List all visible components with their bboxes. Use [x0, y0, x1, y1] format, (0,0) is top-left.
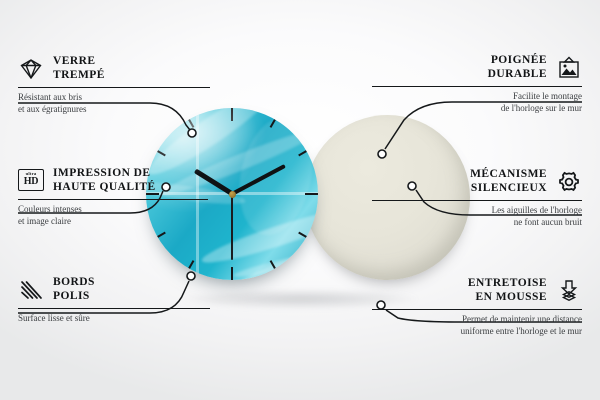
feature-divider: [372, 200, 582, 201]
feature-desc-line2: de l'horloge sur le mur: [372, 103, 582, 115]
infographic-stage: VERRE TREMPÉ Résistant aux bris et aux é…: [0, 0, 600, 400]
feature-desc-line1: Couleurs intenses: [18, 204, 228, 216]
feature-mecanisme-silencieux: MÉCANISME SILENCIEUX Les aiguilles de l'…: [372, 168, 582, 228]
feature-desc-line1: Les aiguilles de l'horloge: [372, 205, 582, 217]
down-arrow-layers-icon: [556, 279, 582, 303]
feature-poignee-durable: POIGNÉE DURABLE Facilite le montage de l…: [372, 54, 582, 114]
feature-title-line2: HAUTE QUALITÉ: [53, 181, 156, 195]
feature-title-line1: VERRE: [53, 55, 105, 69]
feature-desc-line2: uniforme entre l'horloge et le mur: [372, 326, 582, 338]
feature-divider: [18, 87, 210, 88]
feature-title-line2: SILENCIEUX: [470, 182, 547, 196]
feature-title-line2: TREMPÉ: [53, 69, 105, 83]
feature-desc-line1: Permet de maintenir une distance: [372, 314, 582, 326]
feature-title-line1: MÉCANISME: [470, 168, 547, 182]
diamond-icon: [18, 57, 44, 81]
feature-title-line1: POIGNÉE: [488, 54, 547, 68]
feature-desc-line1: Surface lisse et sûre: [18, 313, 228, 325]
feature-title-line1: ENTRETOISE: [468, 277, 547, 291]
feature-entretoise-en-mousse: ENTRETOISE EN MOUSSE Permet de maintenir…: [372, 277, 582, 337]
gear-icon: [556, 170, 582, 194]
feature-bords-polis: BORDS POLIS Surface lisse et sûre: [18, 276, 228, 325]
feature-desc-line2: et aux égratignures: [18, 104, 228, 116]
feature-desc-line1: Résistant aux bris: [18, 92, 228, 104]
feature-desc-line2: et image claire: [18, 216, 228, 228]
ultra-hd-icon-big-label: HD: [24, 177, 39, 187]
feature-title-line2: POLIS: [53, 290, 95, 304]
feature-impression-haute-qualite: ultra HD IMPRESSION DE HAUTE QUALITÉ Cou…: [18, 167, 228, 227]
feature-title-line2: EN MOUSSE: [468, 291, 547, 305]
ultra-hd-icon: ultra HD: [18, 169, 44, 193]
picture-frame-hanger-icon: [556, 56, 582, 80]
feature-divider: [18, 199, 208, 200]
feature-divider: [18, 308, 210, 309]
feature-title-line2: DURABLE: [488, 68, 547, 82]
feature-desc-line1: Facilite le montage: [372, 91, 582, 103]
feature-desc-line2: ne font aucun bruit: [372, 217, 582, 229]
diagonal-lines-icon: [18, 278, 44, 302]
feature-divider: [372, 86, 582, 87]
feature-divider: [372, 309, 582, 310]
feature-verre-trempe: VERRE TREMPÉ Résistant aux bris et aux é…: [18, 55, 228, 115]
feature-title-line1: IMPRESSION DE: [53, 167, 156, 181]
feature-title-line1: BORDS: [53, 276, 95, 290]
